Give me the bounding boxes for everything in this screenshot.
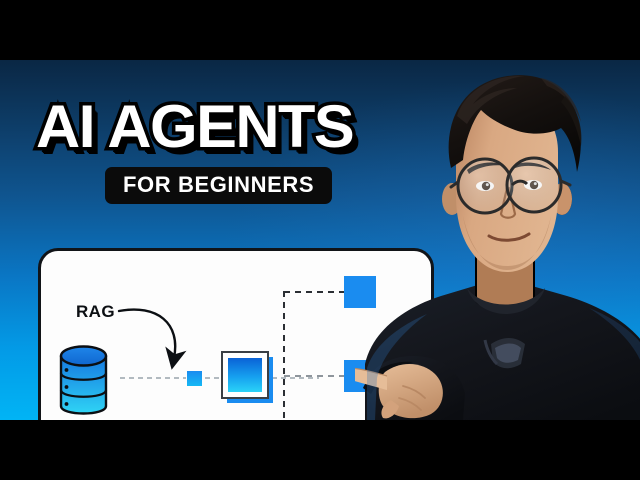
page-title: AI AGENTS (36, 98, 353, 157)
video-frame: AI AGENTS FOR BEGINNERS (0, 60, 640, 420)
rag-annotation-arrow (119, 310, 175, 358)
agent-node (222, 352, 273, 403)
headline-block: AI AGENTS FOR BEGINNERS (36, 98, 347, 204)
youtube-thumbnail: AI AGENTS FOR BEGINNERS (0, 0, 640, 480)
connector-dot-node (187, 371, 202, 386)
presenter-photo (355, 60, 640, 420)
database-cylinder-icon (61, 347, 106, 414)
status-badge: FOR BEGINNERS (105, 167, 332, 204)
letterbox-bottom (0, 420, 640, 480)
badge-label: FOR BEGINNERS (123, 174, 314, 196)
rag-annotation-label: RAG (76, 302, 115, 321)
letterbox-top (0, 0, 640, 60)
